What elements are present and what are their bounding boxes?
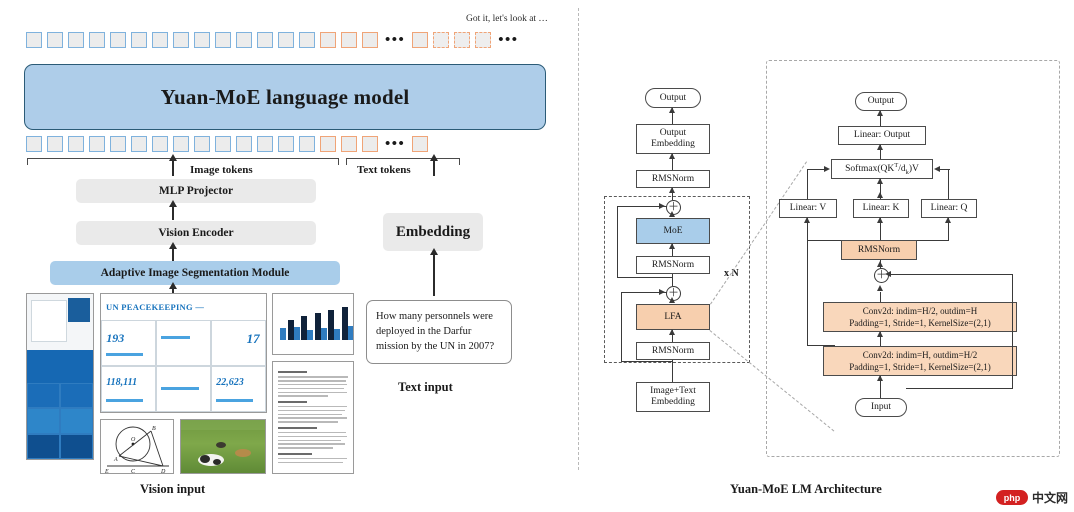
image-token	[131, 136, 147, 152]
stack-rmsnorm-top: RMSNorm	[636, 170, 710, 188]
conv-top-line2: Padding=1, Stride=1, KernelSize=(2,1)	[849, 317, 990, 329]
thumb-stat-cell: 193	[101, 320, 156, 366]
image-token	[257, 136, 273, 152]
detail-arrow-k	[877, 192, 883, 198]
text-token	[412, 32, 428, 48]
cow-svg	[181, 420, 266, 474]
embedding-block: Embedding	[383, 213, 483, 251]
yuan-moe-language-model-block: Yuan-MoE language model	[24, 64, 546, 130]
conv-bottom-line1: Conv2d: indim=H, outdim=H/2	[863, 349, 977, 361]
thumb-cell	[27, 434, 60, 459]
detail-wire-v	[807, 169, 825, 170]
stack-line	[672, 360, 673, 382]
thumb-bar-pair	[280, 320, 294, 340]
detail-softmax-block: Softmax(QKT/dk)V	[831, 159, 933, 179]
assistant-output-text: Got it, let's look at …	[466, 14, 548, 24]
residual-wire	[617, 206, 618, 278]
detail-arrow-add	[877, 261, 883, 267]
token-ellipsis: •••	[496, 32, 520, 48]
text-token	[341, 32, 357, 48]
image-tokens-label: Image tokens	[190, 164, 253, 176]
image-token	[194, 136, 210, 152]
residual-arrow	[659, 203, 665, 209]
arrow-mlp-to-tokens	[172, 160, 174, 176]
thumbnail-un-peacekeeping: UN PEACEKEEPING — 193 17 118,111 22,623	[100, 293, 267, 413]
image-token	[26, 32, 42, 48]
thumbnail-bar-chart	[272, 293, 354, 355]
image-token	[215, 136, 231, 152]
text-token	[412, 136, 428, 152]
image-token	[110, 32, 126, 48]
detail-wire-q	[948, 169, 949, 199]
thumb-bar-pair	[334, 307, 348, 340]
generated-token	[454, 32, 470, 48]
stack-rmsnorm-bottom: RMSNorm	[636, 342, 710, 360]
stack-lfa-block: LFA	[636, 304, 710, 330]
detail-arrow	[877, 178, 883, 184]
image-token	[131, 32, 147, 48]
detail-wire-q	[940, 169, 950, 170]
thumb-header	[27, 294, 93, 350]
text-token	[320, 32, 336, 48]
stack-arrow	[669, 107, 675, 113]
detail-line	[880, 292, 881, 302]
image-token	[26, 136, 42, 152]
arrow-embedding-to-tokens	[433, 160, 435, 176]
detail-arrow-v	[824, 166, 830, 172]
detail-output-node: Output	[855, 92, 907, 111]
thumb-stat-cell	[156, 366, 211, 412]
image-token	[68, 136, 84, 152]
detail-linear-k: Linear: K	[853, 199, 909, 218]
thumb-bar-pair	[294, 316, 308, 340]
image-token	[47, 32, 63, 48]
detail-rmsnorm: RMSNorm	[841, 240, 917, 260]
doc-heading	[278, 427, 317, 429]
detail-linear-v: Linear: V	[779, 199, 837, 218]
image-token	[299, 136, 315, 152]
residual-wire	[617, 277, 672, 278]
detail-linear-output: Linear: Output	[838, 126, 926, 145]
svg-text:A: A	[113, 457, 118, 463]
output-token-row: ••••••	[26, 32, 521, 48]
detail-arrow-fan-q	[945, 217, 951, 223]
softmax-formula: Softmax(QKT/dk)V	[845, 160, 919, 178]
token-ellipsis: •••	[383, 32, 407, 48]
image-token	[194, 32, 210, 48]
image-tokens-bracket	[27, 158, 339, 165]
detail-residual-arrow	[885, 271, 891, 277]
detail-arrow-v-rail	[804, 217, 810, 223]
image-token	[89, 32, 105, 48]
detail-conv-bottom: Conv2d: indim=H, outdim=H/2 Padding=1, S…	[823, 346, 1017, 376]
detail-wire-v-rail	[807, 218, 808, 346]
thumbnail-cow-photo	[180, 419, 266, 474]
stack-input-embedding: Image+Text Embedding	[636, 382, 710, 412]
thumb-icon-grid	[27, 383, 93, 459]
stack-output-node: Output	[645, 88, 701, 108]
text-token	[362, 136, 378, 152]
vision-encoder-block: Vision Encoder	[76, 221, 316, 245]
vision-input-caption: Vision input	[140, 482, 205, 497]
doc-heading	[278, 401, 307, 403]
figure-root: Got it, let's look at … •••••• Yuan-MoE …	[0, 0, 1074, 512]
generated-token	[475, 32, 491, 48]
arrow-vision-encoder-to-mlp	[172, 206, 174, 220]
thumb-text-band	[27, 350, 93, 383]
text-input-caption: Text input	[398, 380, 453, 395]
php-logo-cn: 中文网	[1032, 489, 1068, 506]
stack-arrow	[669, 153, 675, 159]
svg-text:B: B	[152, 426, 156, 432]
detail-arrow	[877, 375, 883, 381]
residual-wire	[621, 361, 673, 362]
detail-input-node: Input	[855, 398, 907, 417]
image-token	[299, 32, 315, 48]
image-token	[47, 136, 63, 152]
detail-residual-rail	[888, 274, 1013, 275]
conv-bottom-line2: Padding=1, Stride=1, KernelSize=(2,1)	[849, 361, 990, 373]
watermark-logo: php 中文网	[996, 489, 1068, 506]
thumbnail-document-page	[272, 361, 354, 474]
doc-heading	[278, 371, 307, 373]
text-token	[362, 32, 378, 48]
thumb-cell	[27, 383, 60, 408]
thumb-bars	[280, 302, 346, 340]
doc-heading	[278, 453, 312, 455]
detail-arrow	[877, 144, 883, 150]
text-tokens-label: Text tokens	[357, 164, 411, 176]
detail-residual-rail	[1012, 274, 1013, 389]
svg-text:D: D	[160, 469, 166, 474]
stack-arrow	[669, 211, 675, 217]
stack-arrow	[669, 243, 675, 249]
token-ellipsis: •••	[383, 136, 407, 152]
thumb-bar-pair	[321, 310, 335, 340]
detail-conv-top: Conv2d: indim=H/2, outdim=H Padding=1, S…	[823, 302, 1017, 332]
image-token	[68, 32, 84, 48]
stack-rmsnorm-mid: RMSNorm	[636, 256, 710, 274]
input-token-row: •••	[26, 136, 428, 152]
panel-divider	[578, 8, 579, 470]
arrow-text-input-to-embedding	[433, 254, 435, 296]
thumb-title: UN PEACEKEEPING —	[101, 294, 266, 320]
stack-line	[672, 274, 673, 286]
thumb-bar-pair	[307, 313, 321, 340]
generated-token	[433, 32, 449, 48]
thumb-stat-cell	[156, 320, 211, 366]
stack-arrow	[669, 187, 675, 193]
detail-wire-v	[807, 169, 808, 199]
mlp-projector-block: MLP Projector	[76, 179, 316, 203]
conv-top-line1: Conv2d: indim=H/2, outdim=H	[863, 305, 977, 317]
detail-arrow	[877, 285, 883, 291]
thumbnail-geometry-figure: O B A E C D	[100, 419, 174, 474]
thumb-stat-grid: 193 17 118,111 22,623	[101, 320, 266, 412]
svg-text:O: O	[131, 437, 136, 443]
thumb-cell	[60, 434, 93, 459]
image-token	[173, 32, 189, 48]
thumb-cell	[27, 408, 60, 433]
image-token	[152, 136, 168, 152]
detail-arrow	[877, 110, 883, 116]
stack-output-embedding: Output Embedding	[636, 124, 710, 154]
thumb-cell	[60, 408, 93, 433]
stack-moe-block: MoE	[636, 218, 710, 244]
stack-arrow	[669, 297, 675, 303]
detail-arrow	[877, 331, 883, 337]
detail-arrow-fan-k	[877, 217, 883, 223]
architecture-caption: Yuan-MoE LM Architecture	[730, 482, 882, 497]
php-logo-badge: php	[996, 490, 1028, 505]
svg-text:C: C	[131, 469, 136, 474]
image-token	[215, 32, 231, 48]
image-token	[278, 32, 294, 48]
text-token	[341, 136, 357, 152]
image-token	[236, 32, 252, 48]
image-token	[152, 32, 168, 48]
residual-arrow	[659, 289, 665, 295]
image-token	[110, 136, 126, 152]
text-input-question-box: How many personnels were deployed in the…	[366, 300, 512, 364]
thumb-bar-pair	[348, 302, 355, 340]
image-token	[89, 136, 105, 152]
adaptive-image-segmentation-block: Adaptive Image Segmentation Module	[50, 261, 340, 285]
thumbnail-ml-infographic	[26, 293, 94, 460]
residual-wire	[621, 292, 622, 362]
detail-residual-rail	[906, 388, 1013, 389]
image-token	[236, 136, 252, 152]
thumb-stat-cell: 118,111	[101, 366, 156, 412]
arrow-segmentation-to-vision-encoder	[172, 248, 174, 262]
thumb-stat-cell: 22,623	[211, 366, 266, 412]
geometry-svg: O B A E C D	[101, 420, 174, 474]
image-token	[173, 136, 189, 152]
thumb-stat-cell: 17	[211, 320, 266, 366]
detail-arrow-q	[934, 166, 940, 172]
svg-text:E: E	[104, 469, 109, 474]
image-token	[278, 136, 294, 152]
thumb-cell	[60, 383, 93, 408]
stack-arrow	[669, 329, 675, 335]
image-token	[257, 32, 273, 48]
text-token	[320, 136, 336, 152]
detail-linear-q: Linear: Q	[921, 199, 977, 218]
